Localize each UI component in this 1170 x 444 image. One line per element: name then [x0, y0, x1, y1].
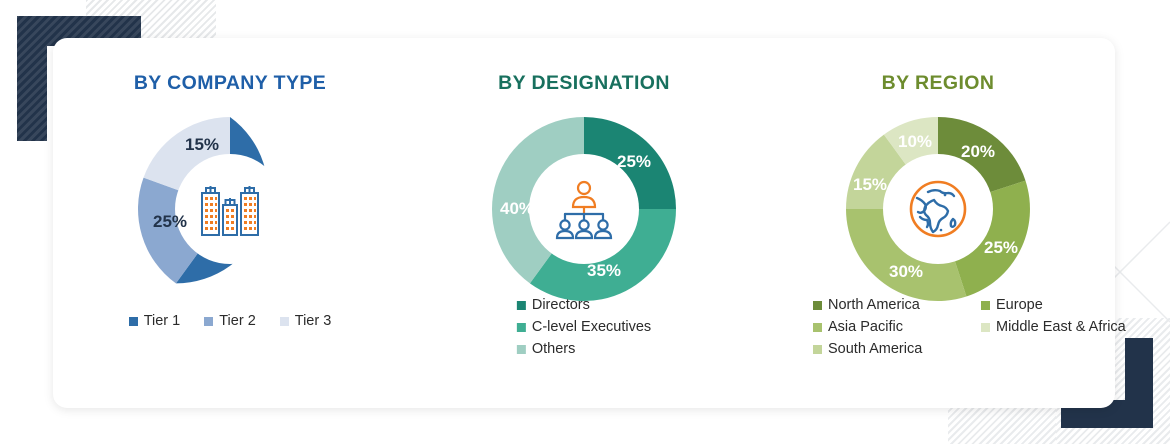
legend-label-middle-east-and-africa: Middle East & Africa: [996, 316, 1126, 338]
donut-chart-designation: 25% 35% 40%: [484, 109, 684, 309]
donut-label-asia-pacific: 30%: [889, 262, 923, 281]
donut-label-tier-3: 15%: [185, 135, 219, 154]
chart-title-company-type: BY COMPANY TYPE: [134, 72, 326, 95]
legend-item-others[interactable]: Others: [517, 338, 576, 360]
donut-chart-region: 20% 25% 30% 15% 10%: [838, 109, 1038, 309]
donut-label-tier-1: 60%: [271, 227, 305, 246]
infographic-canvas: BY COMPANY TYPE 60% 25% 15%: [0, 0, 1170, 444]
donut-label-north-america: 20%: [961, 142, 995, 161]
donut-label-europe: 25%: [984, 238, 1018, 257]
org-chart-people-icon: [545, 170, 623, 248]
donut-label-middle-east-and-africa: 10%: [898, 132, 932, 151]
charts-row: BY COMPANY TYPE 60% 25% 15%: [53, 38, 1115, 408]
legend-item-c-level-executives[interactable]: C-level Executives: [517, 316, 651, 338]
legend-swatch-north-america: [813, 301, 822, 310]
legend-swatch-c-level-executives: [517, 323, 526, 332]
legend-swatch-directors: [517, 301, 526, 310]
legend-swatch-tier-2: [204, 317, 213, 326]
donut-label-tier-2: 25%: [153, 212, 187, 231]
legend-item-europe[interactable]: Europe: [981, 294, 1141, 316]
donut-label-directors: 25%: [617, 152, 651, 171]
chart-title-designation: BY DESIGNATION: [498, 72, 670, 95]
legend-label-europe: Europe: [996, 294, 1043, 316]
legend-swatch-middle-east-and-africa: [981, 323, 990, 332]
legend-item-directors[interactable]: Directors: [517, 294, 590, 316]
legend-label-south-america: South America: [828, 338, 922, 360]
donut-label-others: 40%: [500, 199, 534, 218]
legend-swatch-south-america: [813, 345, 822, 354]
legend-item-tier-1[interactable]: Tier 1: [129, 310, 181, 332]
legend-label-tier-1: Tier 1: [144, 310, 181, 332]
legend-label-others: Others: [532, 338, 576, 360]
legend-swatch-europe: [981, 301, 990, 310]
chart-title-region: BY REGION: [882, 72, 995, 95]
legend-designation: Directors C-level Executives Others: [517, 294, 651, 360]
donut-label-c-level-executives: 35%: [587, 261, 621, 280]
donut-label-south-america: 15%: [853, 175, 887, 194]
legend-label-c-level-executives: C-level Executives: [532, 316, 651, 338]
legend-item-south-america[interactable]: South America: [813, 338, 973, 360]
legend-swatch-others: [517, 345, 526, 354]
charts-card: BY COMPANY TYPE 60% 25% 15%: [53, 38, 1115, 408]
legend-label-tier-3: Tier 3: [295, 310, 332, 332]
legend-item-tier-2[interactable]: Tier 2: [204, 310, 256, 332]
globe-icon: [899, 170, 977, 248]
legend-label-directors: Directors: [532, 294, 590, 316]
legend-swatch-tier-3: [280, 317, 289, 326]
donut-chart-company-type: 60% 25% 15%: [130, 109, 330, 309]
legend-swatch-tier-1: [129, 317, 138, 326]
legend-label-north-america: North America: [828, 294, 920, 316]
legend-item-tier-3[interactable]: Tier 3: [280, 310, 332, 332]
legend-label-tier-2: Tier 2: [219, 310, 256, 332]
legend-company-type: Tier 1 Tier 2 Tier 3: [53, 310, 407, 332]
chart-panel-company-type: BY COMPANY TYPE 60% 25% 15%: [53, 38, 407, 408]
legend-region: North America Europe Asia Pacific Middle…: [813, 294, 1141, 360]
legend-item-asia-pacific[interactable]: Asia Pacific: [813, 316, 973, 338]
legend-label-asia-pacific: Asia Pacific: [828, 316, 903, 338]
chart-panel-region: BY REGION 20%: [761, 38, 1115, 408]
buildings-icon: [191, 170, 269, 248]
legend-swatch-asia-pacific: [813, 323, 822, 332]
legend-item-north-america[interactable]: North America: [813, 294, 973, 316]
legend-item-middle-east-and-africa[interactable]: Middle East & Africa: [981, 316, 1141, 338]
chart-panel-designation: BY DESIGNATION 25% 35% 40%: [407, 38, 761, 408]
